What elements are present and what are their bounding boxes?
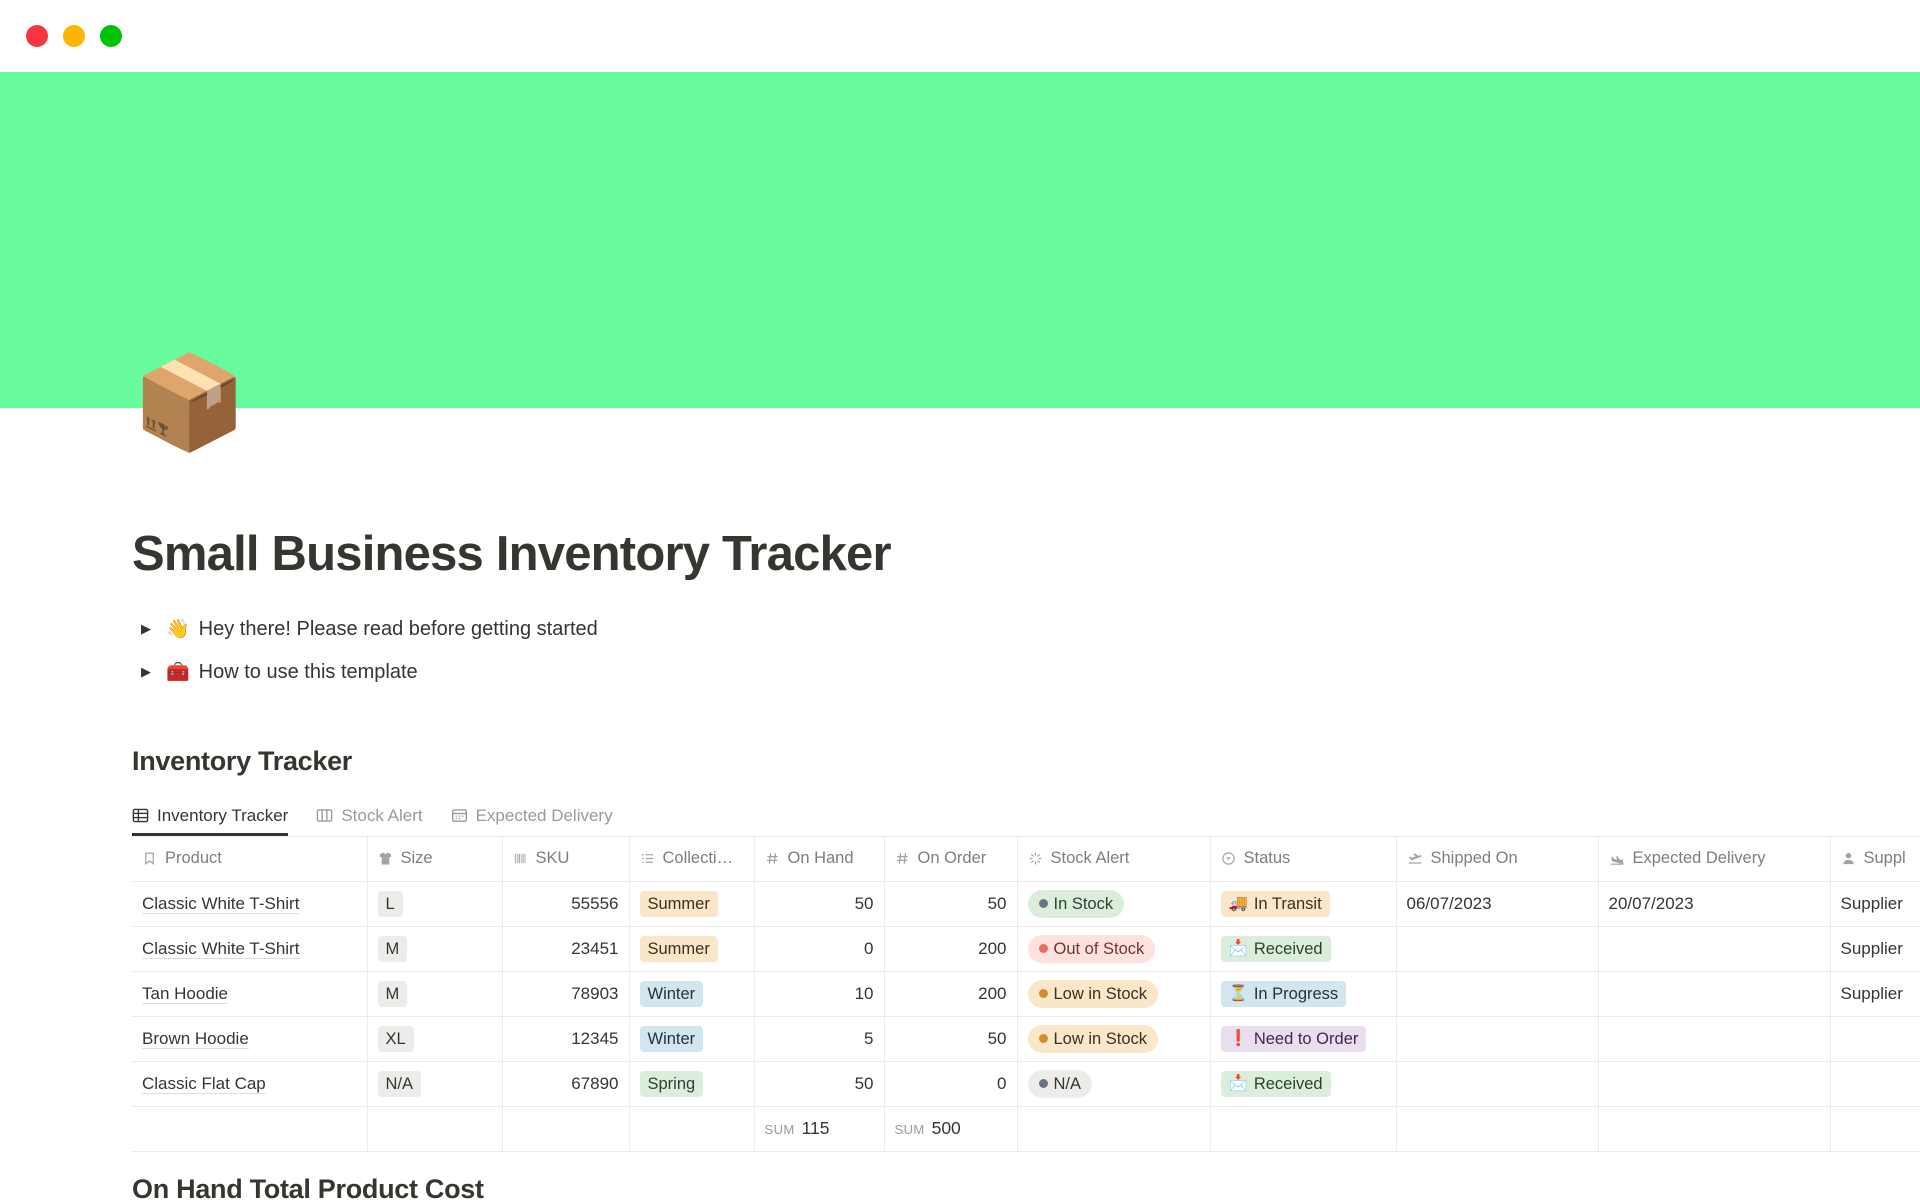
status-label: Received [1254, 939, 1323, 960]
cell-expected-delivery[interactable] [1598, 1016, 1830, 1061]
footer-spacer [1396, 1106, 1598, 1151]
column-label: Size [401, 849, 433, 868]
column-label: SKU [536, 849, 570, 868]
cell-status[interactable]: 📩Received [1210, 1061, 1396, 1106]
size-pill: M [378, 981, 408, 1008]
column-label: Product [165, 849, 222, 868]
tab-expected-delivery[interactable]: Expected Delivery [451, 806, 627, 836]
table-row[interactable]: Classic Flat Cap N/A 67890 Spring 50 0 N… [132, 1061, 1920, 1106]
toolbox-emoji-icon: 🧰 [166, 660, 190, 684]
table-header-row: Product Size SKU Collecti… [132, 836, 1920, 881]
sum-label: SUM [765, 1122, 795, 1137]
column-label: Collecti… [663, 849, 734, 868]
cell-collection[interactable]: Winter [629, 971, 754, 1016]
cell-on-order[interactable]: 50 [884, 881, 1017, 926]
minimize-button[interactable] [63, 25, 85, 47]
calendar-icon [451, 807, 468, 824]
cell-on-order[interactable]: 0 [884, 1061, 1017, 1106]
cell-on-order[interactable]: 50 [884, 1016, 1017, 1061]
status-dot [1039, 944, 1048, 953]
collection-pill: Winter [640, 1026, 704, 1053]
cell-size[interactable]: L [367, 881, 502, 926]
cell-collection[interactable]: Winter [629, 1016, 754, 1061]
tab-label: Inventory Tracker [157, 806, 288, 826]
product-link[interactable]: Classic White T-Shirt [142, 894, 299, 913]
cell-on-hand[interactable]: 5 [754, 1016, 884, 1061]
cell-status[interactable]: ❗Need to Order [1210, 1016, 1396, 1061]
status-dot [1039, 989, 1048, 998]
footer-spacer [367, 1106, 502, 1151]
cell-size[interactable]: M [367, 971, 502, 1016]
inventory-table: Product Size SKU Collecti… [132, 836, 1920, 1152]
cell-sku[interactable]: 78903 [502, 971, 629, 1016]
table-row[interactable]: Classic White T-Shirt M 23451 Summer 0 2… [132, 926, 1920, 971]
cell-sku[interactable]: 55556 [502, 881, 629, 926]
cell-sku[interactable]: 12345 [502, 1016, 629, 1061]
tab-label: Stock Alert [341, 806, 422, 826]
cell-expected-delivery[interactable] [1598, 971, 1830, 1016]
toggle-row[interactable]: ▶ 👋 Hey there! Please read before gettin… [132, 608, 1920, 651]
cell-shipped-on[interactable] [1396, 926, 1598, 971]
page-cover-image[interactable] [0, 72, 1920, 408]
cell-stock-alert[interactable]: Out of Stock [1017, 926, 1210, 971]
size-pill: L [378, 891, 403, 918]
cell-size[interactable]: XL [367, 1016, 502, 1061]
footer-spacer [132, 1106, 367, 1151]
cell-supplier[interactable]: Supplier [1830, 971, 1920, 1016]
person-icon [1841, 851, 1856, 866]
status-dot [1039, 899, 1048, 908]
stock-alert-label: N/A [1054, 1074, 1082, 1095]
status-label: In Progress [1254, 984, 1338, 1005]
toggle-row[interactable]: ▶ 🧰 How to use this template [132, 651, 1920, 694]
size-pill: N/A [378, 1071, 422, 1098]
stock-alert-label: Out of Stock [1054, 939, 1145, 960]
cell-product[interactable]: Classic Flat Cap [132, 1061, 367, 1106]
chevron-right-icon[interactable]: ▶ [132, 621, 160, 637]
cell-shipped-on[interactable] [1396, 1061, 1598, 1106]
size-pill: XL [378, 1026, 414, 1053]
wave-emoji-icon: 👋 [166, 617, 190, 641]
product-link[interactable]: Classic White T-Shirt [142, 939, 299, 958]
product-link[interactable]: Tan Hoodie [142, 984, 228, 1003]
footer-spacer [1210, 1106, 1396, 1151]
table-row[interactable]: Brown Hoodie XL 12345 Winter 5 50 Low in… [132, 1016, 1920, 1061]
tab-stock-alert[interactable]: Stock Alert [316, 806, 436, 836]
cell-status[interactable]: 📩Received [1210, 926, 1396, 971]
cell-on-hand[interactable]: 0 [754, 926, 884, 971]
sum-value: 115 [802, 1118, 830, 1138]
window-titlebar [0, 0, 1920, 72]
cell-expected-delivery[interactable] [1598, 1061, 1830, 1106]
cell-product[interactable]: Classic White T-Shirt [132, 881, 367, 926]
cell-size[interactable]: N/A [367, 1061, 502, 1106]
status-label: Need to Order [1254, 1029, 1359, 1050]
cell-on-order[interactable]: 200 [884, 926, 1017, 971]
tab-inventory-tracker[interactable]: Inventory Tracker [132, 806, 302, 836]
column-header-supplier[interactable]: Suppl [1830, 836, 1920, 881]
collection-pill: Winter [640, 981, 704, 1008]
cell-status[interactable]: 🚚In Transit [1210, 881, 1396, 926]
status-label: Received [1254, 1074, 1323, 1095]
maximize-button[interactable] [100, 25, 122, 47]
database-table-container: Product Size SKU Collecti… [132, 836, 1920, 1152]
footer-spacer [1017, 1106, 1210, 1151]
collection-pill: Spring [640, 1071, 704, 1098]
toggle-label: Hey there! Please read before getting st… [199, 618, 598, 641]
cell-shipped-on[interactable]: 06/07/2023 [1396, 881, 1598, 926]
sum-value: 500 [932, 1118, 961, 1138]
footer-spacer [1598, 1106, 1830, 1151]
column-header-shipped-on[interactable]: Shipped On [1396, 836, 1598, 881]
list-icon [640, 851, 655, 866]
database-title: Inventory Tracker [132, 746, 1920, 777]
cell-stock-alert[interactable]: N/A [1017, 1061, 1210, 1106]
column-label: Expected Delivery [1633, 849, 1766, 868]
number-icon [765, 851, 780, 866]
toggle-label: How to use this template [199, 661, 418, 684]
cell-supplier[interactable] [1830, 1016, 1920, 1061]
cell-collection[interactable]: Spring [629, 1061, 754, 1106]
cell-on-hand[interactable]: 50 [754, 1061, 884, 1106]
cell-supplier[interactable] [1830, 1061, 1920, 1106]
cell-supplier[interactable]: Supplier [1830, 881, 1920, 926]
page-emoji-icon[interactable]: 📦 [132, 353, 232, 453]
cell-expected-delivery[interactable] [1598, 926, 1830, 971]
cell-on-hand[interactable]: 50 [754, 881, 884, 926]
cell-sku[interactable]: 23451 [502, 926, 629, 971]
product-link[interactable]: Classic Flat Cap [142, 1074, 266, 1093]
truck-emoji-icon: 🚚 [1229, 894, 1248, 913]
status-dot [1039, 1034, 1048, 1043]
cell-stock-alert[interactable]: Low in Stock [1017, 971, 1210, 1016]
table-footer-row: SUM115 SUM500 [132, 1106, 1920, 1151]
status-label: In Transit [1254, 894, 1322, 915]
page-content: 📦 Small Business Inventory Tracker ▶ 👋 H… [0, 408, 1920, 1200]
column-header-size[interactable]: Size [367, 836, 502, 881]
column-header-status[interactable]: Status [1210, 836, 1396, 881]
cell-stock-alert[interactable]: In Stock [1017, 881, 1210, 926]
inbox-emoji-icon: 📩 [1229, 939, 1248, 958]
column-label: Shipped On [1431, 849, 1518, 868]
footer-spacer [629, 1106, 754, 1151]
number-icon [895, 851, 910, 866]
footer-spacer [1830, 1106, 1920, 1151]
column-label: Stock Alert [1051, 849, 1130, 868]
cell-product[interactable]: Tan Hoodie [132, 971, 367, 1016]
stock-alert-label: Low in Stock [1054, 1029, 1148, 1050]
table-row[interactable]: Tan Hoodie M 78903 Winter 10 200 Low in … [132, 971, 1920, 1016]
plane-takeoff-icon [1407, 851, 1423, 867]
table-row[interactable]: Classic White T-Shirt L 55556 Summer 50 … [132, 881, 1920, 926]
column-header-expected-delivery[interactable]: Expected Delivery [1598, 836, 1830, 881]
footer-spacer [502, 1106, 629, 1151]
cell-product[interactable]: Brown Hoodie [132, 1016, 367, 1061]
cell-status[interactable]: ⏳In Progress [1210, 971, 1396, 1016]
column-header-on-hand[interactable]: On Hand [754, 836, 884, 881]
tshirt-icon [378, 851, 393, 866]
column-label: Suppl [1864, 849, 1906, 868]
cell-shipped-on[interactable] [1396, 971, 1598, 1016]
hourglass-emoji-icon: ⏳ [1229, 984, 1248, 1003]
column-header-sku[interactable]: SKU [502, 836, 629, 881]
cell-on-order[interactable]: 200 [884, 971, 1017, 1016]
bookmark-icon [142, 851, 157, 866]
inbox-emoji-icon: 📩 [1229, 1074, 1248, 1093]
cell-size[interactable]: M [367, 926, 502, 971]
sum-label: SUM [895, 1122, 925, 1137]
table-body: Classic White T-Shirt L 55556 Summer 50 … [132, 881, 1920, 1151]
plane-landing-icon [1609, 851, 1625, 867]
formula-icon [1028, 851, 1043, 866]
cell-sku[interactable]: 67890 [502, 1061, 629, 1106]
exclamation-emoji-icon: ❗ [1229, 1029, 1248, 1048]
board-icon [316, 807, 333, 824]
column-label: On Order [918, 849, 987, 868]
database-view-tabs: Inventory Tracker Stock Alert [132, 799, 1920, 836]
select-icon [1221, 851, 1236, 866]
cell-stock-alert[interactable]: Low in Stock [1017, 1016, 1210, 1061]
column-label: On Hand [788, 849, 854, 868]
status-dot [1039, 1079, 1048, 1088]
column-header-product[interactable]: Product [132, 836, 367, 881]
collection-pill: Summer [640, 936, 718, 963]
footer-sum-on-hand[interactable]: SUM115 [754, 1106, 884, 1151]
size-pill: M [378, 936, 408, 963]
cell-collection[interactable]: Summer [629, 881, 754, 926]
cell-supplier[interactable]: Supplier [1830, 926, 1920, 971]
product-link[interactable]: Brown Hoodie [142, 1029, 249, 1048]
cell-expected-delivery[interactable]: 20/07/2023 [1598, 881, 1830, 926]
column-header-stock-alert[interactable]: Stock Alert [1017, 836, 1210, 881]
chevron-right-icon[interactable]: ▶ [132, 664, 160, 680]
cell-collection[interactable]: Summer [629, 926, 754, 971]
column-header-collection[interactable]: Collecti… [629, 836, 754, 881]
page-title: Small Business Inventory Tracker [132, 408, 1920, 582]
close-button[interactable] [26, 25, 48, 47]
footer-sum-on-order[interactable]: SUM500 [884, 1106, 1017, 1151]
cell-on-hand[interactable]: 10 [754, 971, 884, 1016]
stock-alert-label: In Stock [1054, 894, 1114, 915]
toggle-list: ▶ 👋 Hey there! Please read before gettin… [132, 608, 1920, 694]
column-label: Status [1244, 849, 1291, 868]
collection-pill: Summer [640, 891, 718, 918]
stock-alert-label: Low in Stock [1054, 984, 1148, 1005]
column-header-on-order[interactable]: On Order [884, 836, 1017, 881]
barcode-icon [513, 851, 528, 866]
table-icon [132, 807, 149, 824]
cell-product[interactable]: Classic White T-Shirt [132, 926, 367, 971]
next-section-title: On Hand Total Product Cost [132, 1174, 1920, 1200]
cell-shipped-on[interactable] [1396, 1016, 1598, 1061]
tab-label: Expected Delivery [476, 806, 613, 826]
